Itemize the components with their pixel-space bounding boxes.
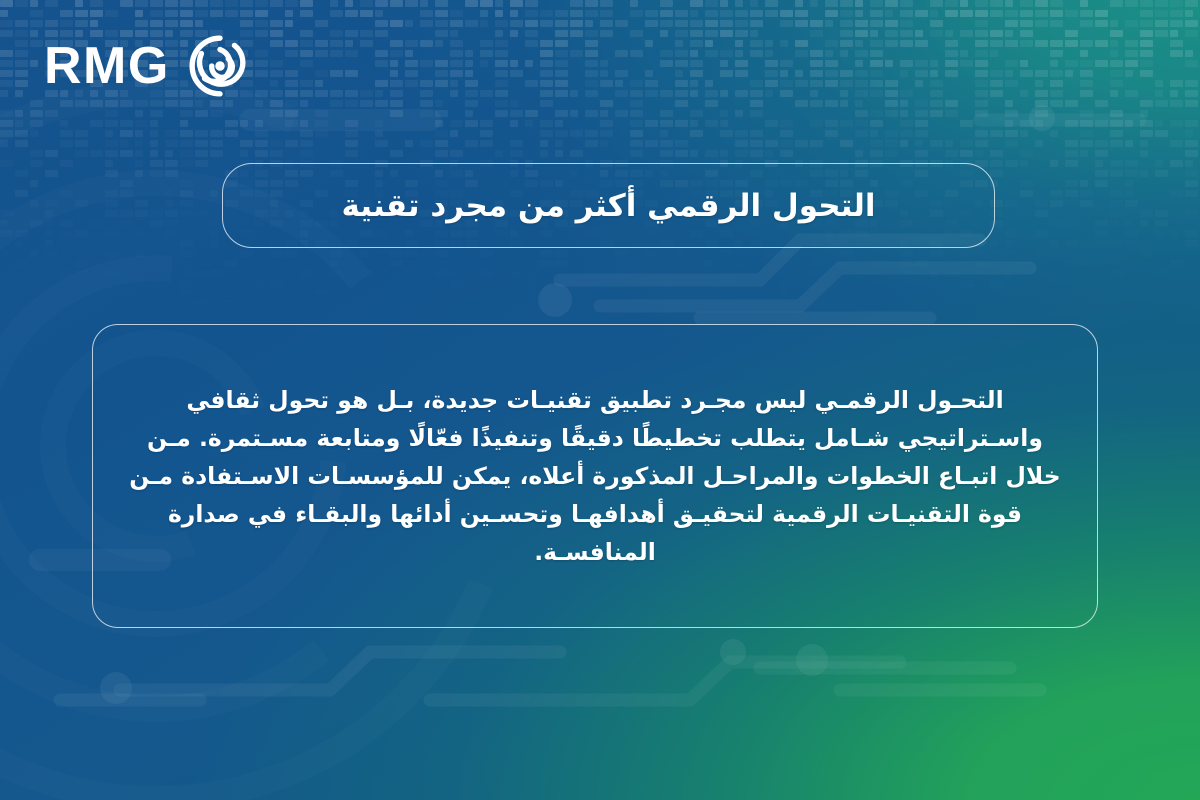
headline-card: التحول الرقمي أكثر من مجرد تقنية (222, 163, 995, 248)
rmg-spiral-rings-icon (187, 33, 253, 99)
poster-canvas: RMG التحول الرقمي أكثر من مجرد تقنية الت… (0, 0, 1200, 800)
body-card: التحـول الرقمـي ليس مجـرد تطبيق تقنيـات … (92, 324, 1098, 628)
body-paragraph: التحـول الرقمـي ليس مجـرد تطبيق تقنيـات … (127, 381, 1063, 571)
brand-wordmark: RMG (44, 40, 170, 92)
page-title: التحول الرقمي أكثر من مجرد تقنية (341, 188, 875, 224)
brand-logo[interactable]: RMG (44, 33, 253, 99)
